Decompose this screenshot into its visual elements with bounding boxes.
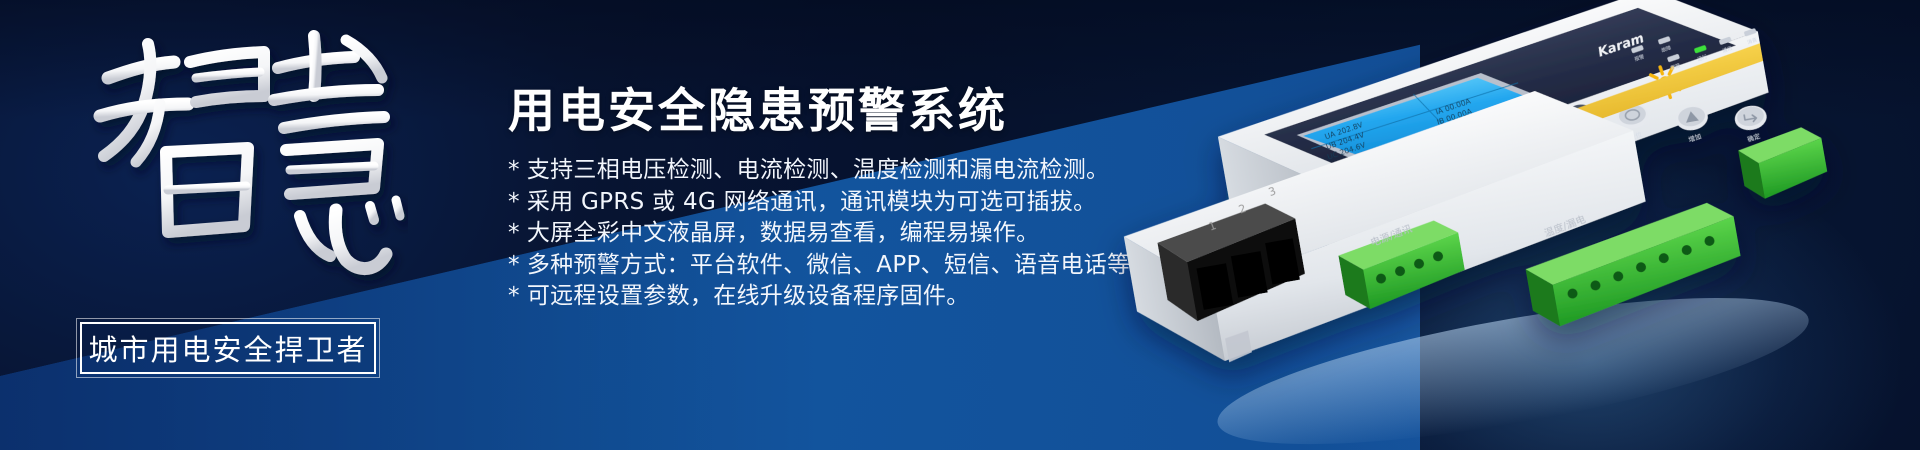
bullet-text: 多种预警方式：平台软件、微信、APP、短信、语音电话等等。	[527, 252, 1177, 278]
up-button-label: 增加	[1687, 131, 1702, 144]
tagline-badge: 城市用电安全捍卫者	[80, 322, 376, 374]
bullet-marker: *	[508, 220, 520, 246]
bullet-text: 大屏全彩中文液晶屏，数据易查看，编程易操作。	[527, 220, 1040, 246]
bullet-text: 可远程设置参数，在线升级设备程序固件。	[527, 283, 970, 309]
bullet-marker: *	[508, 189, 520, 215]
bullet-marker: *	[508, 283, 520, 309]
enter-button[interactable]: 确定	[1733, 103, 1771, 145]
list-item: *可远程设置参数，在线升级设备程序固件。	[508, 281, 1148, 313]
list-item: *多种预警方式：平台软件、微信、APP、短信、语音电话等等。	[508, 250, 1148, 282]
promo-banner: 城市用电安全捍卫者 用电安全隐患预警系统 *支持三相电压检测、电流检测、温度检测…	[0, 0, 1920, 450]
list-item: *支持三相电压检测、电流检测、温度检测和漏电流检测。	[508, 155, 1148, 187]
bullet-text: 采用 GPRS 或 4G 网络通讯，通讯模块为可选可插拔。	[527, 189, 1097, 215]
list-item: *大屏全彩中文液晶屏，数据易查看，编程易操作。	[508, 218, 1148, 250]
bullet-marker: *	[508, 157, 520, 183]
tagline-badge-text: 城市用电安全捍卫者	[88, 327, 367, 369]
list-item: *采用 GPRS 或 4G 网络通讯，通讯模块为可选可插拔。	[508, 187, 1148, 219]
bullet-marker: *	[508, 252, 520, 278]
enter-button-label: 确定	[1746, 131, 1762, 144]
page-title: 用电安全隐患预警系统	[508, 84, 1148, 139]
calligraphy-logo	[78, 20, 408, 290]
feature-list: *支持三相电压检测、电流检测、温度检测和漏电流检测。 *采用 GPRS 或 4G…	[508, 155, 1148, 313]
copy-column: 用电安全隐患预警系统 *支持三相电压检测、电流检测、温度检测和漏电流检测。 *采…	[508, 84, 1148, 313]
product-photo: UA 202.8V UB 204.4V UC 204.6V IA 00.00A …	[1050, 0, 1920, 450]
bullet-text: 支持三相电压检测、电流检测、温度检测和漏电流检测。	[527, 157, 1110, 183]
